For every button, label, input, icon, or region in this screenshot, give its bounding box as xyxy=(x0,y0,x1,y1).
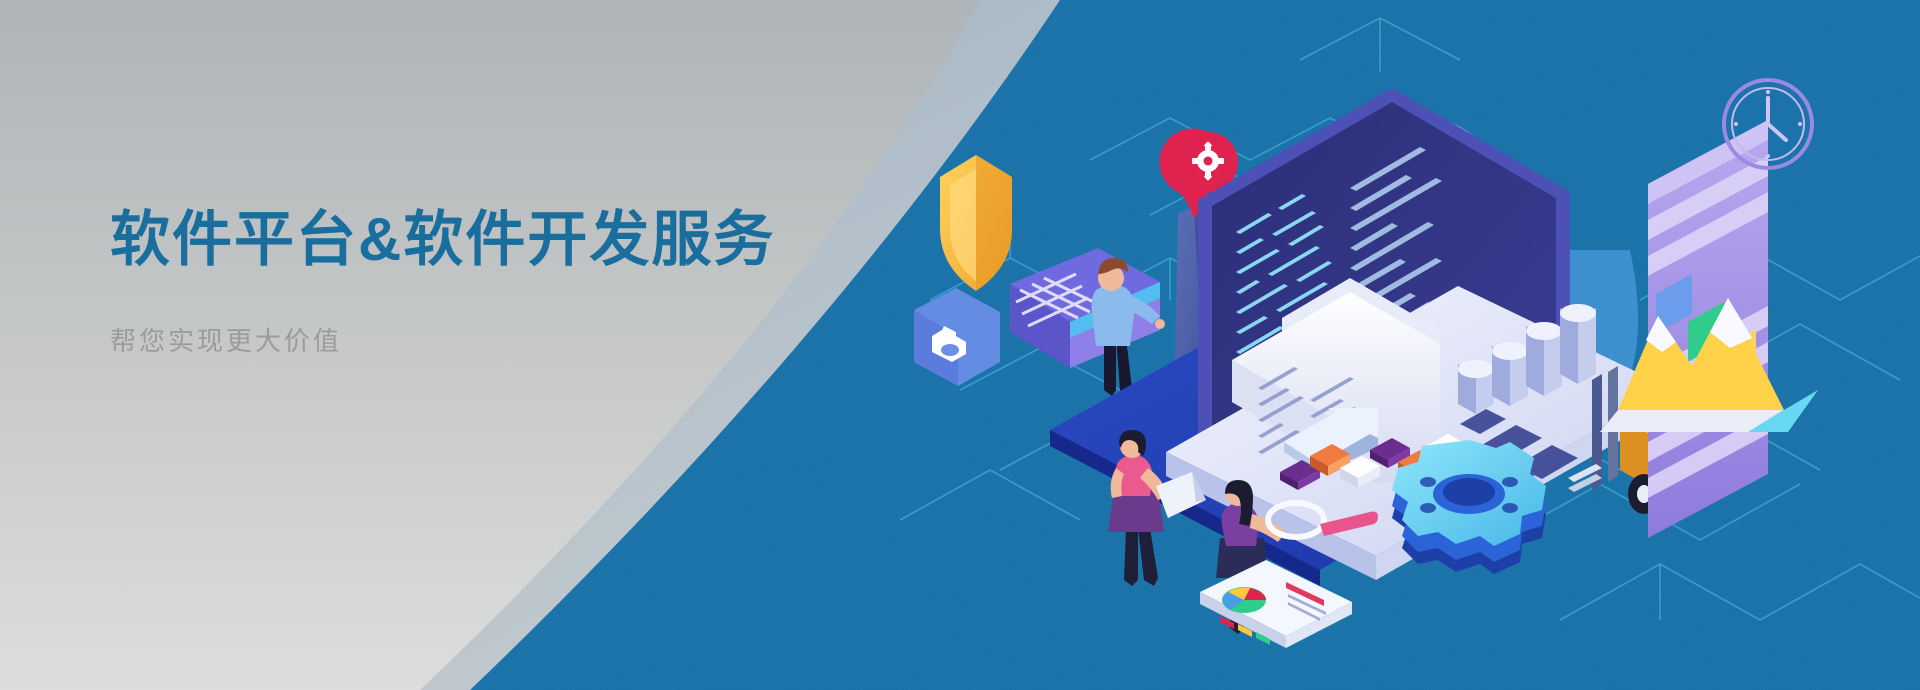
page-subtitle: 帮您实现更大价值 xyxy=(110,321,830,358)
hero-banner: 软件平台&软件开发服务 帮您实现更大价值 xyxy=(0,0,1920,690)
banner-text-block: 软件平台&软件开发服务 帮您实现更大价值 xyxy=(110,205,830,358)
page-title: 软件平台&软件开发服务 xyxy=(110,205,830,276)
